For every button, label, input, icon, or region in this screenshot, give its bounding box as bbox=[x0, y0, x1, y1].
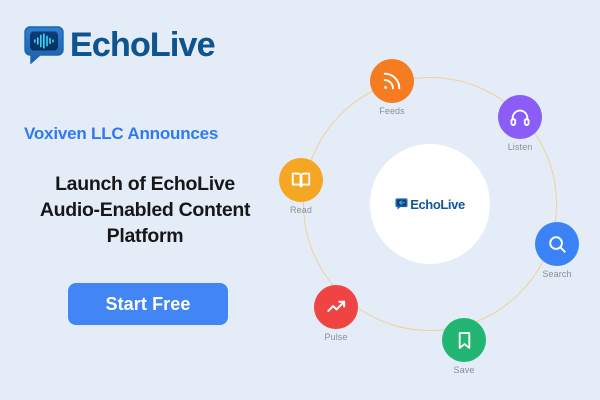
feature-orbit-diagram: EchoLive Feeds List bbox=[290, 0, 600, 400]
trending-up-icon bbox=[314, 285, 358, 329]
brand-wordmark: EchoLive bbox=[70, 28, 215, 62]
headline-line: Platform bbox=[0, 224, 290, 250]
orbit-node-feeds[interactable]: Feeds bbox=[370, 59, 414, 103]
start-free-button[interactable]: Start Free bbox=[68, 283, 228, 325]
orbit-node-search[interactable]: Search bbox=[535, 222, 579, 266]
headphones-icon bbox=[498, 95, 542, 139]
headline-line: Launch of EchoLive bbox=[0, 172, 290, 198]
orbit-node-label: Save bbox=[454, 365, 475, 375]
orbit-node-save[interactable]: Save bbox=[442, 318, 486, 362]
brand-logo: EchoLive bbox=[24, 26, 215, 64]
speech-bubble-waveform-icon bbox=[395, 198, 408, 210]
speech-bubble-waveform-icon bbox=[24, 26, 64, 64]
orbit-node-label: Listen bbox=[508, 142, 533, 152]
hub-brand-logo: EchoLive bbox=[395, 198, 465, 211]
headline: Launch of EchoLive Audio-Enabled Content… bbox=[0, 172, 290, 250]
open-book-icon bbox=[279, 158, 323, 202]
orbit-node-listen[interactable]: Listen bbox=[498, 95, 542, 139]
rss-icon bbox=[370, 59, 414, 103]
orbit-node-label: Read bbox=[290, 205, 312, 215]
orbit-node-label: Pulse bbox=[324, 332, 347, 342]
bookmark-icon bbox=[442, 318, 486, 362]
orbit-node-label: Search bbox=[542, 269, 571, 279]
headline-line: Audio-Enabled Content bbox=[0, 198, 290, 224]
left-content-panel: EchoLive Voxiven LLC Announces Launch of… bbox=[0, 0, 290, 400]
diagram-hub: EchoLive bbox=[370, 144, 490, 264]
promo-banner: EchoLive Voxiven LLC Announces Launch of… bbox=[0, 0, 600, 400]
hub-brand-wordmark: EchoLive bbox=[410, 198, 465, 211]
announcement-eyebrow: Voxiven LLC Announces bbox=[24, 124, 218, 144]
orbit-node-label: Feeds bbox=[379, 106, 405, 116]
orbit-node-pulse[interactable]: Pulse bbox=[314, 285, 358, 329]
magnifier-icon bbox=[535, 222, 579, 266]
orbit-node-read[interactable]: Read bbox=[279, 158, 323, 202]
